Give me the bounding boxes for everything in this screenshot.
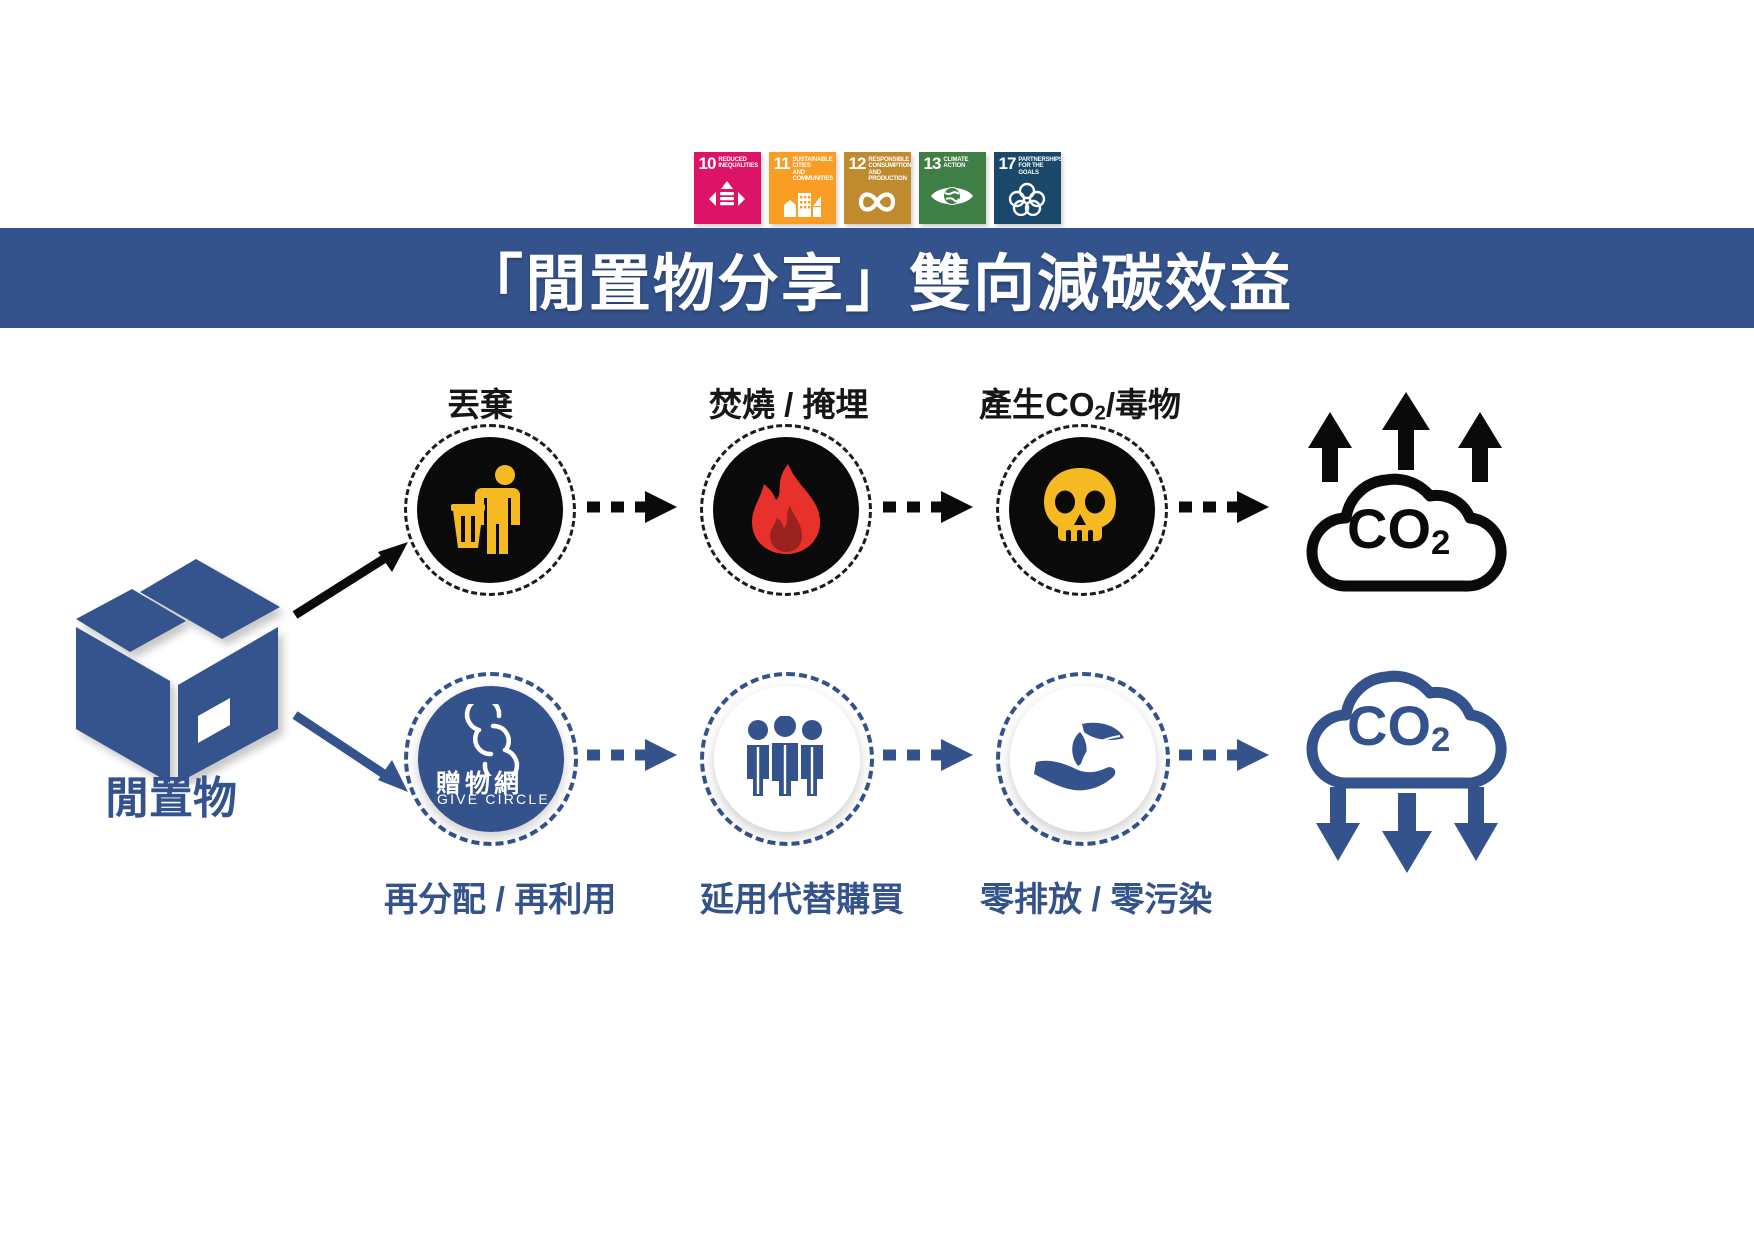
hand-leaf-icon	[1032, 718, 1128, 794]
sdg-number: 17	[999, 157, 1016, 171]
top-step-label-2: 焚燒 / 掩埋	[709, 378, 869, 426]
sdg-badge-13: 13 CLIMATE ACTION	[919, 152, 986, 224]
sdg-number: 12	[849, 157, 866, 171]
title-bar: 「閒置物分享」雙向減碳效益	[0, 228, 1754, 328]
skull-toxic-icon	[1040, 466, 1120, 550]
sdg-number: 10	[699, 157, 716, 171]
arrow-top-3-to-result	[1177, 485, 1287, 529]
source-box	[70, 535, 290, 790]
arrow-top-1-to-2	[585, 485, 695, 529]
sdg-title: REDUCED INEQUALITIES	[718, 157, 758, 170]
arrow-box-to-bottom	[290, 700, 420, 810]
three-people-icon	[741, 716, 829, 796]
cloud-down-arrows-icon	[1300, 655, 1515, 880]
throw-away-trash-icon	[449, 464, 533, 556]
bottom-step-label-3: 零排放 / 零污染	[980, 872, 1212, 921]
top-result-co2-cloud: CO2	[1300, 390, 1515, 605]
infinity-loop-icon	[844, 183, 911, 224]
sdg-number: 13	[924, 157, 941, 171]
sdg-badge-header: 12 RESPONSIBLE CONSUMPTION AND PRODUCTIO…	[844, 152, 911, 183]
top-result-label: CO2	[1347, 496, 1450, 563]
equality-icon	[694, 171, 761, 224]
bottom-step-label-2: 延用代替購買	[700, 872, 904, 921]
sdg-badge-10: 10 REDUCED INEQUALITIES	[694, 152, 761, 224]
arrow-bottom-2-to-3	[881, 733, 991, 777]
sdg-title: RESPONSIBLE CONSUMPTION AND PRODUCTION	[868, 157, 910, 183]
sdg-badge-11: 11 SUSTAINABLE CITIES AND COMMUNITIES	[769, 152, 836, 224]
bottom-step-label-1: 再分配 / 再利用	[384, 872, 616, 921]
partnership-rings-icon	[994, 176, 1061, 224]
top-step-label-3: 產生CO2/毒物	[979, 378, 1181, 426]
flame-icon	[750, 462, 822, 556]
sdg-badge-header: 17 PARTNERSHIPS FOR THE GOALS	[994, 152, 1061, 176]
sdg-number: 11	[774, 157, 790, 171]
source-label: 閒置物	[105, 762, 237, 826]
sdg-title: SUSTAINABLE CITIES AND COMMUNITIES	[792, 157, 832, 183]
sdg-badge-header: 13 CLIMATE ACTION	[919, 152, 986, 171]
co2-text: CO2	[1347, 497, 1450, 560]
sdg-badge-header: 11 SUSTAINABLE CITIES AND COMMUNITIES	[769, 152, 836, 183]
sdg-badge-17: 17 PARTNERSHIPS FOR THE GOALS	[994, 152, 1061, 224]
cardboard-box-icon	[70, 535, 290, 785]
sdg-title: PARTNERSHIPS FOR THE GOALS	[1018, 157, 1060, 176]
top-step-label-1: 丟棄	[447, 378, 513, 426]
sdg-badge-12: 12 RESPONSIBLE CONSUMPTION AND PRODUCTIO…	[844, 152, 911, 224]
city-buildings-icon	[769, 183, 836, 224]
arrow-bottom-1-to-2	[585, 733, 695, 777]
cloud-up-arrows-icon	[1300, 390, 1515, 600]
sdg-title: CLIMATE ACTION	[943, 157, 968, 170]
bottom-result-label: CO2	[1347, 693, 1450, 760]
co2-text: CO2	[1347, 694, 1450, 757]
arrow-top-2-to-3	[881, 485, 991, 529]
sdg-badge-header: 10 REDUCED INEQUALITIES	[694, 152, 761, 171]
bottom-result-co2-cloud: CO2	[1300, 655, 1515, 885]
page-title: 「閒置物分享」雙向減碳效益	[461, 233, 1293, 323]
eye-globe-icon	[919, 171, 986, 224]
sdg-badge-strip: 10 REDUCED INEQUALITIES 11 SUSTAINABLE C…	[0, 152, 1754, 230]
arrow-bottom-3-to-result	[1177, 733, 1287, 777]
arrow-box-to-top	[290, 530, 420, 630]
logo-english: GIVE CIRCLE	[437, 791, 550, 807]
